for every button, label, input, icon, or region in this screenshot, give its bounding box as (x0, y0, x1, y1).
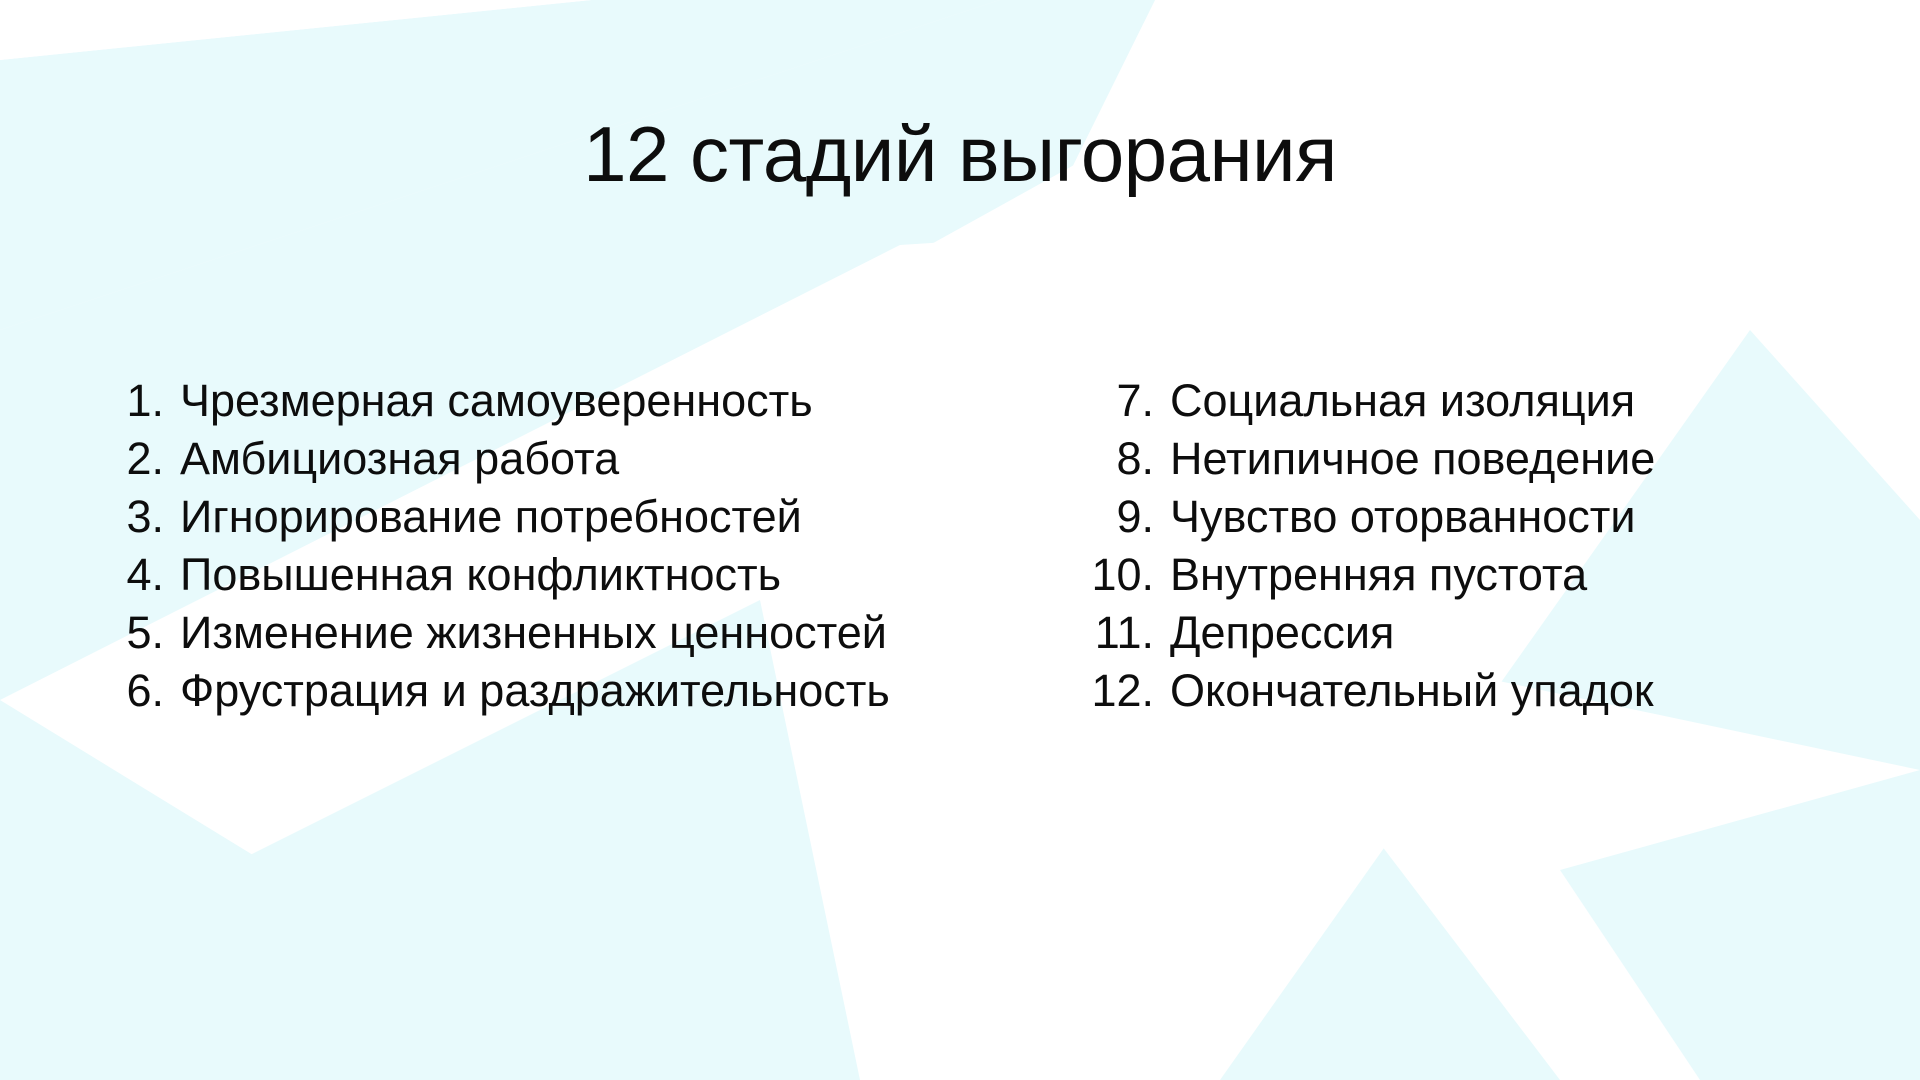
list-item-number: 7. (1086, 372, 1170, 430)
list-item-number: 11. (1086, 604, 1170, 662)
list-item-number: 3. (96, 488, 180, 546)
list-item-number: 2. (96, 430, 180, 488)
list-column-right: 7. Социальная изоляция 8. Нетипичное пов… (1086, 372, 1655, 720)
stages-list-right: 7. Социальная изоляция 8. Нетипичное пов… (1086, 372, 1655, 720)
list-item-label: Чрезмерная самоуверенность (180, 372, 813, 430)
list-item-label: Социальная изоляция (1170, 372, 1635, 430)
list-item: 8. Нетипичное поведение (1086, 430, 1655, 488)
slide-content: 12 стадий выгорания 1. Чрезмерная самоув… (0, 0, 1920, 1080)
list-item: 2. Амбициозная работа (96, 430, 890, 488)
list-item: 4. Повышенная конфликтность (96, 546, 890, 604)
list-item-number: 9. (1086, 488, 1170, 546)
list-column-left: 1. Чрезмерная самоуверенность 2. Амбицио… (96, 372, 890, 720)
list-item-label: Изменение жизненных ценностей (180, 604, 887, 662)
list-item: 7. Социальная изоляция (1086, 372, 1655, 430)
list-item: 11. Депрессия (1086, 604, 1655, 662)
list-item: 3. Игнорирование потребностей (96, 488, 890, 546)
list-item-number: 10. (1086, 546, 1170, 604)
list-item: 6. Фрустрация и раздражительность (96, 662, 890, 720)
list-item-label: Амбициозная работа (180, 430, 619, 488)
slide-canvas: 12 стадий выгорания 1. Чрезмерная самоув… (0, 0, 1920, 1080)
list-item-number: 4. (96, 546, 180, 604)
list-item: 12. Окончательный упадок (1086, 662, 1655, 720)
list-item-label: Депрессия (1170, 604, 1394, 662)
list-item-label: Внутренняя пустота (1170, 546, 1587, 604)
list-item-label: Чувство оторванности (1170, 488, 1636, 546)
list-item-label: Игнорирование потребностей (180, 488, 802, 546)
list-item-number: 6. (96, 662, 180, 720)
list-item-number: 12. (1086, 662, 1170, 720)
stages-list-left: 1. Чрезмерная самоуверенность 2. Амбицио… (96, 372, 890, 720)
list-item-label: Нетипичное поведение (1170, 430, 1655, 488)
list-item-label: Фрустрация и раздражительность (180, 662, 890, 720)
page-title: 12 стадий выгорания (0, 114, 1920, 196)
list-item-label: Повышенная конфликтность (180, 546, 781, 604)
list-item-number: 8. (1086, 430, 1170, 488)
list-item-label: Окончательный упадок (1170, 662, 1654, 720)
list-item: 10. Внутренняя пустота (1086, 546, 1655, 604)
list-item-number: 5. (96, 604, 180, 662)
list-item: 5. Изменение жизненных ценностей (96, 604, 890, 662)
list-item: 1. Чрезмерная самоуверенность (96, 372, 890, 430)
list-item: 9. Чувство оторванности (1086, 488, 1655, 546)
list-item-number: 1. (96, 372, 180, 430)
